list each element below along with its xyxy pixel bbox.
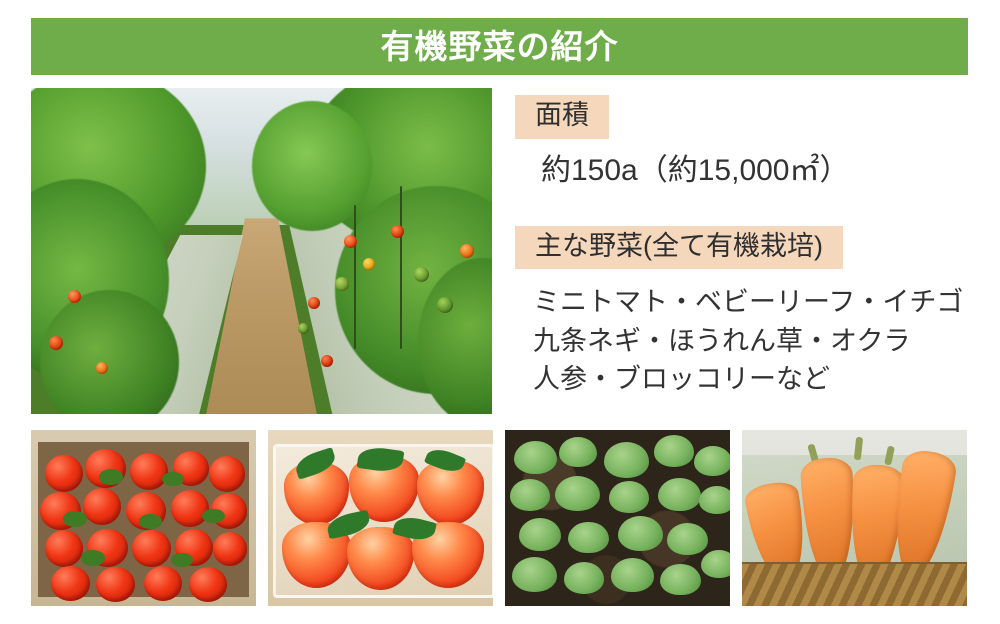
seedling-leaf xyxy=(701,550,730,578)
seedling-leaf xyxy=(699,486,731,514)
info-panel: 面積 約150a（約15,000㎡） 主な野菜(全て有機栽培) ミニトマト・ベビ… xyxy=(515,95,970,398)
tomato-calyx xyxy=(202,509,225,523)
seedling-leaf xyxy=(568,522,609,554)
seedling-leaf xyxy=(519,518,562,551)
vegetables-line-2: 九条ネギ・ほうれん草・オクラ xyxy=(533,322,970,360)
tomato-fruit xyxy=(189,567,227,602)
seedling-leaf xyxy=(512,557,557,592)
tomato-fruit xyxy=(171,490,209,527)
carrots-basket-photo xyxy=(742,430,967,606)
vegetables-line-1: ミニトマト・ベビーリーフ・イチゴ xyxy=(533,283,970,321)
tomato-fruit xyxy=(308,297,320,309)
seedling-leaf xyxy=(564,562,605,594)
tomato-fruit xyxy=(83,488,121,525)
seedling-leaf xyxy=(604,442,649,477)
greenhouse-photo xyxy=(31,88,492,414)
mini-tomatoes-photo xyxy=(31,430,256,606)
tomato-fruit xyxy=(68,290,81,303)
seedling-leaf xyxy=(660,564,701,596)
tomato-fruit xyxy=(414,267,429,282)
tomato-stem xyxy=(354,205,356,348)
tomato-fruit xyxy=(51,566,89,601)
seedling-leaf xyxy=(555,476,600,511)
tomato-fruit xyxy=(96,362,108,374)
seedling-leaf xyxy=(667,523,708,555)
tomato-fruit xyxy=(96,567,134,602)
tomato-fruit xyxy=(130,453,168,490)
photo-strip xyxy=(31,430,968,606)
area-label: 面積 xyxy=(515,95,609,139)
tomato-stem xyxy=(400,186,402,349)
seedling-leaf xyxy=(559,437,597,467)
tomato-fruit xyxy=(132,530,170,567)
page-title: 有機野菜の紹介 xyxy=(381,30,619,63)
seedling-leaf xyxy=(510,479,551,511)
vegetables-line-3: 人参・ブロッコリーなど xyxy=(533,360,970,398)
seedling-leaf xyxy=(514,441,557,474)
seedling-leaf xyxy=(618,516,663,551)
strawberry-seedlings-photo xyxy=(505,430,730,606)
vegetables-list: ミニトマト・ベビーリーフ・イチゴ 九条ネギ・ほうれん草・オクラ 人参・ブロッコリ… xyxy=(515,283,970,398)
seedling-leaf xyxy=(609,481,650,513)
seedling-leaf xyxy=(658,478,701,511)
seedling-leaf xyxy=(654,435,695,467)
tomato-calyx xyxy=(139,514,162,528)
tomato-fruit xyxy=(391,225,404,238)
tomato-fruit xyxy=(363,258,375,270)
tomato-fruit xyxy=(298,323,309,334)
vegetables-label: 主な野菜(全て有機栽培) xyxy=(515,226,843,270)
tomato-calyx xyxy=(81,550,106,566)
seedling-leaf xyxy=(694,446,730,476)
tomato-fruit xyxy=(45,455,83,492)
section-spacer xyxy=(515,190,970,226)
tomato-calyx xyxy=(63,511,88,527)
tomato-fruit xyxy=(213,532,247,565)
tomato-fruit xyxy=(144,566,182,601)
page-header-banner: 有機野菜の紹介 xyxy=(31,18,968,75)
area-value: 約150a（約15,000㎡） xyxy=(515,151,970,190)
strawberries-pack-photo xyxy=(268,430,493,606)
tomato-fruit xyxy=(437,297,453,313)
seedling-leaf xyxy=(611,558,654,591)
wicker-basket xyxy=(742,562,967,606)
tomato-fruit xyxy=(45,530,83,567)
tomato-calyx xyxy=(99,469,124,485)
tomato-fruit xyxy=(209,456,245,491)
